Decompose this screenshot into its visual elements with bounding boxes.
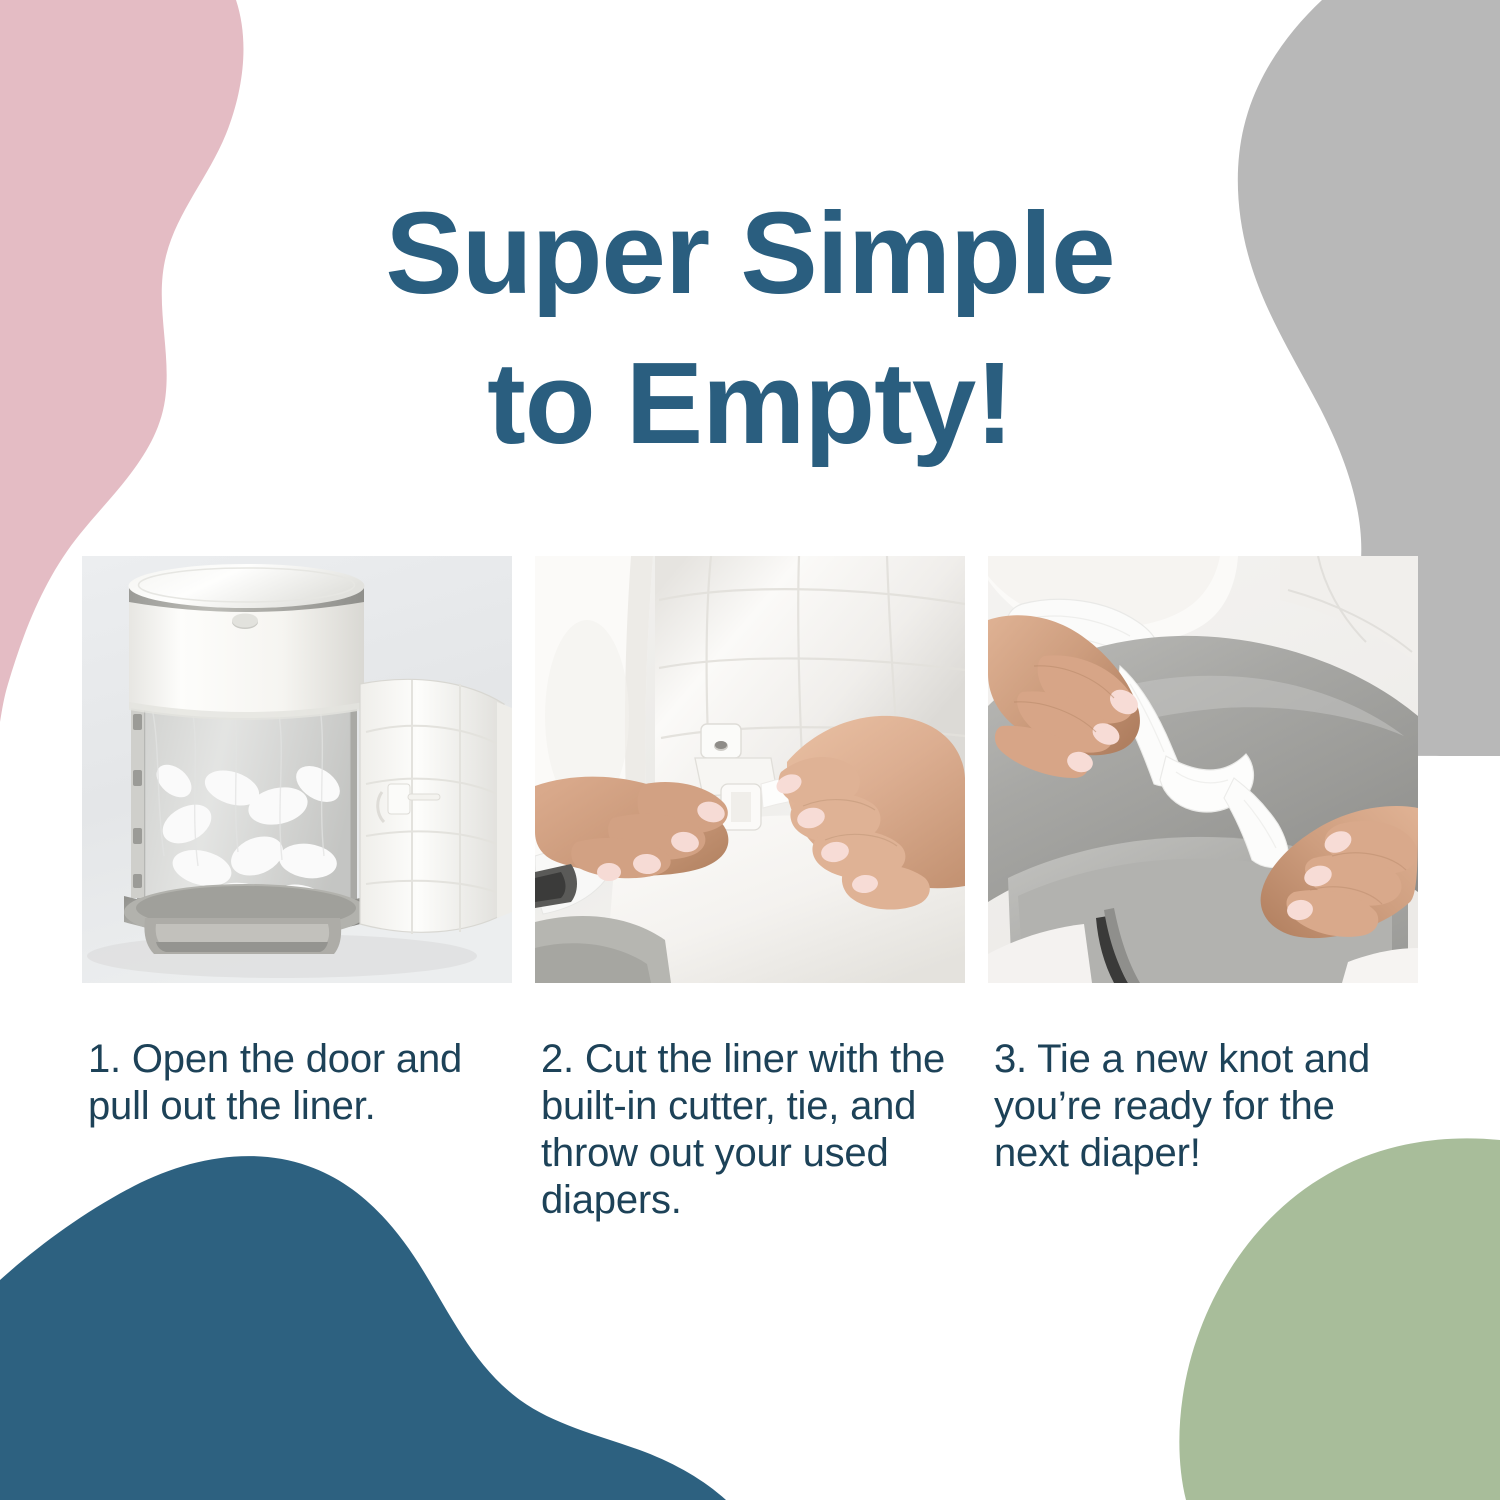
photo-tie-new-knot	[988, 556, 1418, 983]
step-photo-row	[82, 556, 1418, 983]
step-3-caption: 3. Tie a new knot and you’re ready for t…	[994, 1036, 1418, 1224]
photo-cut-liner-with-cutter	[535, 556, 965, 983]
step-2-caption: 2. Cut the liner with the built-in cutte…	[541, 1036, 971, 1224]
infographic-page: Super Simple to Empty!	[0, 0, 1500, 1500]
step-caption-row: 1. Open the door and pull out the liner.…	[88, 1036, 1428, 1224]
step-1-caption: 1. Open the door and pull out the liner.	[88, 1036, 518, 1224]
photo-pail-door-open	[82, 556, 512, 983]
page-title: Super Simple to Empty!	[0, 178, 1500, 478]
